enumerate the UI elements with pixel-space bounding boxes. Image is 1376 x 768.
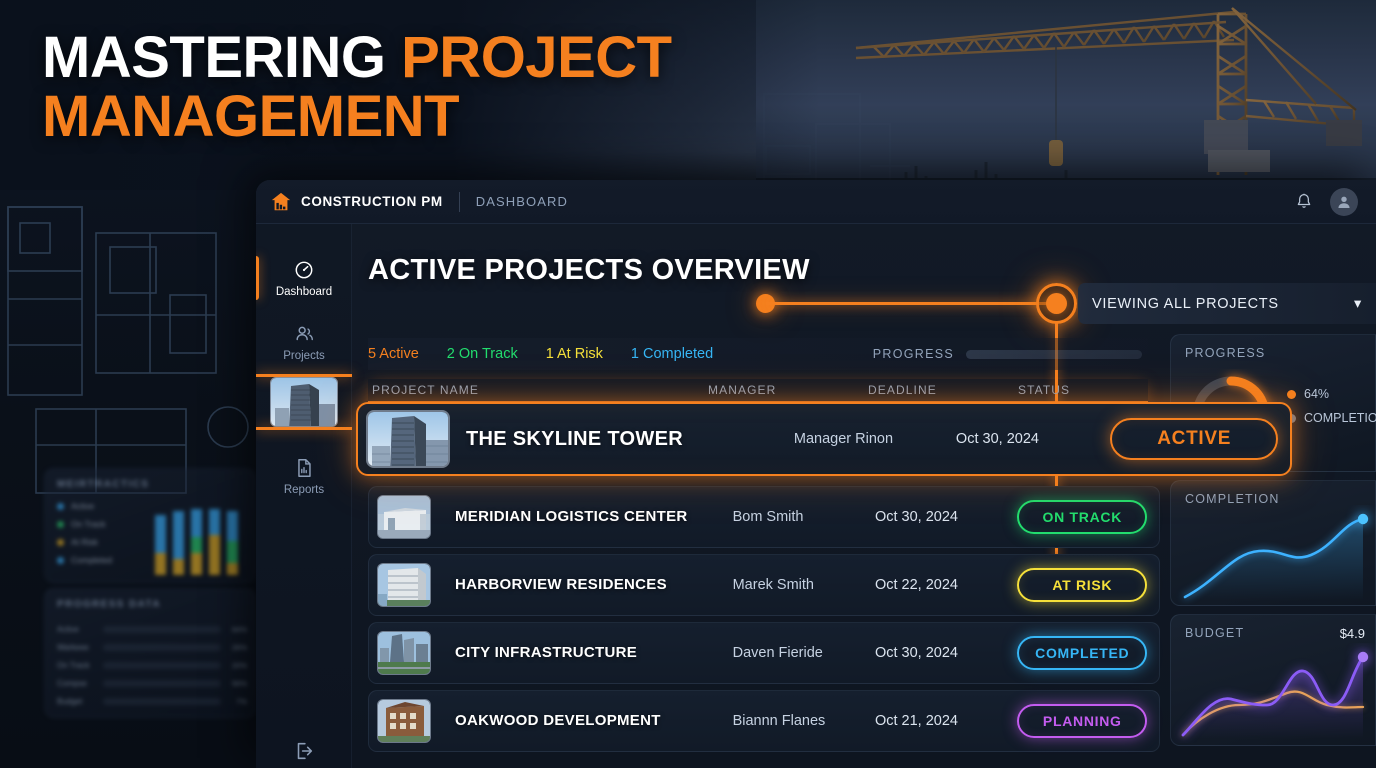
construction-crane-photo [756,0,1376,190]
sidebar-item-projects[interactable]: Projects [256,310,352,374]
sidebar-highlight-bottom [256,427,352,430]
viewing-scope-label: VIEWING ALL PROJECTS [1092,296,1279,312]
page-headline: MASTERING PROJECT MANAGEMENT [42,28,672,146]
project-name: OAKWOOD DEVELOPMENT [455,712,661,729]
status-badge[interactable]: ON TRACK [1017,500,1147,534]
main-content: ACTIVE PROJECTS OVERVIEW VIEWING ALL PRO… [352,224,1376,768]
column-header-manager[interactable]: MANAGER [708,383,868,397]
topbar-divider [459,192,460,212]
status-badge[interactable]: AT RISK [1017,568,1147,602]
headline-word-project: PROJECT [401,25,671,90]
ghost-row-value: 7% [227,697,247,706]
breadcrumb: DASHBOARD [476,194,568,209]
ghost-row-label: Active [57,625,97,634]
completion-panel-title: COMPLETION [1185,492,1280,506]
project-list: THE SKYLINE TOWER Manager Rinon Oct 30, … [368,410,1160,758]
column-header-project-name[interactable]: PROJECT NAME [368,383,708,397]
project-thumbnail [377,631,431,675]
project-name: THE SKYLINE TOWER [466,428,794,451]
budget-panel: BUDGET $4.9 [1170,614,1376,746]
project-manager: Bom Smith [733,509,804,525]
column-header-deadline[interactable]: DEADLINE [868,383,1018,397]
ghost-row-label: Warkeee [57,643,97,652]
stat-completed[interactable]: 1 Completed [631,346,713,362]
stats-summary-bar: 5 Active 2 On Track 1 At Risk 1 Complete… [368,338,1148,370]
ghost-row-value: 64% [227,625,247,634]
project-manager: Daven Fieride [733,645,823,661]
background-metrics-widget: MEIRTRACTICS Active On Track At Risk Com… [44,468,256,583]
project-thumbnail [377,563,431,607]
project-name: MERIDIAN LOGISTICS CENTER [455,508,688,525]
sidebar-item-label: Projects [283,350,325,362]
app-window: CONSTRUCTION PM DASHBOARD [256,180,1376,768]
headline-word-management: MANAGEMENT [42,84,459,149]
table-row[interactable]: OAKWOOD DEVELOPMENT Biannn Flanes Oct 21… [368,690,1160,752]
table-row[interactable]: HARBORVIEW RESIDENCES Marek Smith Oct 22… [368,554,1160,616]
sidebar-item-dashboard[interactable]: Dashboard [256,246,352,310]
progress-legend: 64% COMPLETION [1287,387,1376,425]
status-badge[interactable]: PLANNING [1017,704,1147,738]
sidebar: Dashboard Projects [256,224,352,768]
page-title: ACTIVE PROJECTS OVERVIEW [368,254,810,287]
status-badge[interactable]: ACTIVE [1110,418,1278,460]
progress-track[interactable] [966,350,1142,359]
project-deadline: Oct 30, 2024 [956,431,1039,447]
progress-label: PROGRESS [873,347,954,361]
timeline-node-active [1036,283,1077,324]
budget-line-chart [1171,643,1376,743]
viewing-scope-selector[interactable]: VIEWING ALL PROJECTS ▾ [1078,283,1376,324]
sidebar-featured-thumbnail[interactable] [270,377,338,427]
project-deadline: Oct 21, 2024 [875,713,958,729]
logout-button[interactable] [256,740,352,762]
table-row[interactable]: MERIDIAN LOGISTICS CENTER Bom Smith Oct … [368,486,1160,548]
ghost-legend-label: At Risk [71,537,98,547]
stat-active[interactable]: 5 Active [368,346,419,362]
topbar-actions [1294,188,1358,216]
brand-name: CONSTRUCTION PM [301,194,443,209]
overall-progress: PROGRESS [873,347,1148,361]
progress-panel-title: PROGRESS [1185,346,1265,360]
chevron-down-icon: ▾ [1354,296,1362,312]
logout-icon [293,740,315,762]
sidebar-item-reports[interactable]: Reports [256,444,352,508]
people-icon [293,323,315,345]
ghost-row-value: 56% [227,679,247,688]
ghost-row-value: 20% [227,661,247,670]
project-manager: Marek Smith [733,577,814,593]
timeline-connector-line [766,302,1056,305]
headline-word-mastering: MASTERING [42,25,386,90]
sidebar-item-label: Dashboard [276,286,332,298]
ghost-row-value: 26% [227,643,247,652]
building-logo-icon [270,191,292,213]
sidebar-item-label: Reports [284,484,324,496]
ghost-legend-label: Completed [71,555,112,565]
blueprint-outline-left [0,195,265,515]
budget-value: $4.9 [1340,626,1365,641]
status-badge[interactable]: COMPLETED [1017,636,1147,670]
background-progress-data-widget: PROGRESS DATA Active64% Warkeee26% On Tr… [44,588,256,718]
column-header-status[interactable]: STATUS [1018,383,1148,397]
project-deadline: Oct 30, 2024 [875,509,958,525]
ghost-legend-label: On Track [71,519,105,529]
ghost-row-label: Compse [57,679,97,688]
completion-panel: COMPLETION [1170,480,1376,606]
ghost-row-label: Budget [57,697,97,706]
stat-on-track[interactable]: 2 On Track [447,346,518,362]
project-manager: Manager Rinon [794,431,893,447]
screenshot-root: MEIRTRACTICS Active On Track At Risk Com… [0,0,1376,768]
ghost-legend-label: Active [71,501,94,511]
project-name: CITY INFRASTRUCTURE [455,644,637,661]
project-thumbnail [366,410,450,468]
budget-panel-title: BUDGET [1185,626,1244,640]
project-name: HARBORVIEW RESIDENCES [455,576,667,593]
project-deadline: Oct 30, 2024 [875,645,958,661]
table-header: PROJECT NAME MANAGER DEADLINE STATUS [368,379,1148,403]
stat-at-risk[interactable]: 1 At Risk [546,346,603,362]
project-thumbnail [377,699,431,743]
project-manager: Biannn Flanes [733,713,826,729]
legend-label: COMPLETION [1304,411,1376,425]
app-topbar: CONSTRUCTION PM DASHBOARD [256,180,1376,224]
table-row[interactable]: CITY INFRASTRUCTURE Daven Fieride Oct 30… [368,622,1160,684]
user-avatar-icon[interactable] [1330,188,1358,216]
project-thumbnail [377,495,431,539]
ghost-progress-title: PROGRESS DATA [57,599,161,610]
bell-icon[interactable] [1294,191,1314,213]
completion-line-chart [1171,505,1376,605]
table-row[interactable]: THE SKYLINE TOWER Manager Rinon Oct 30, … [356,402,1292,476]
ghost-bar-chart [155,497,247,575]
legend-label: 64% [1304,387,1329,401]
project-deadline: Oct 22, 2024 [875,577,958,593]
report-chart-icon [293,457,315,479]
gauge-icon [293,259,315,281]
ghost-metrics-title: MEIRTRACTICS [57,479,149,490]
ghost-row-label: On Track [57,661,97,670]
